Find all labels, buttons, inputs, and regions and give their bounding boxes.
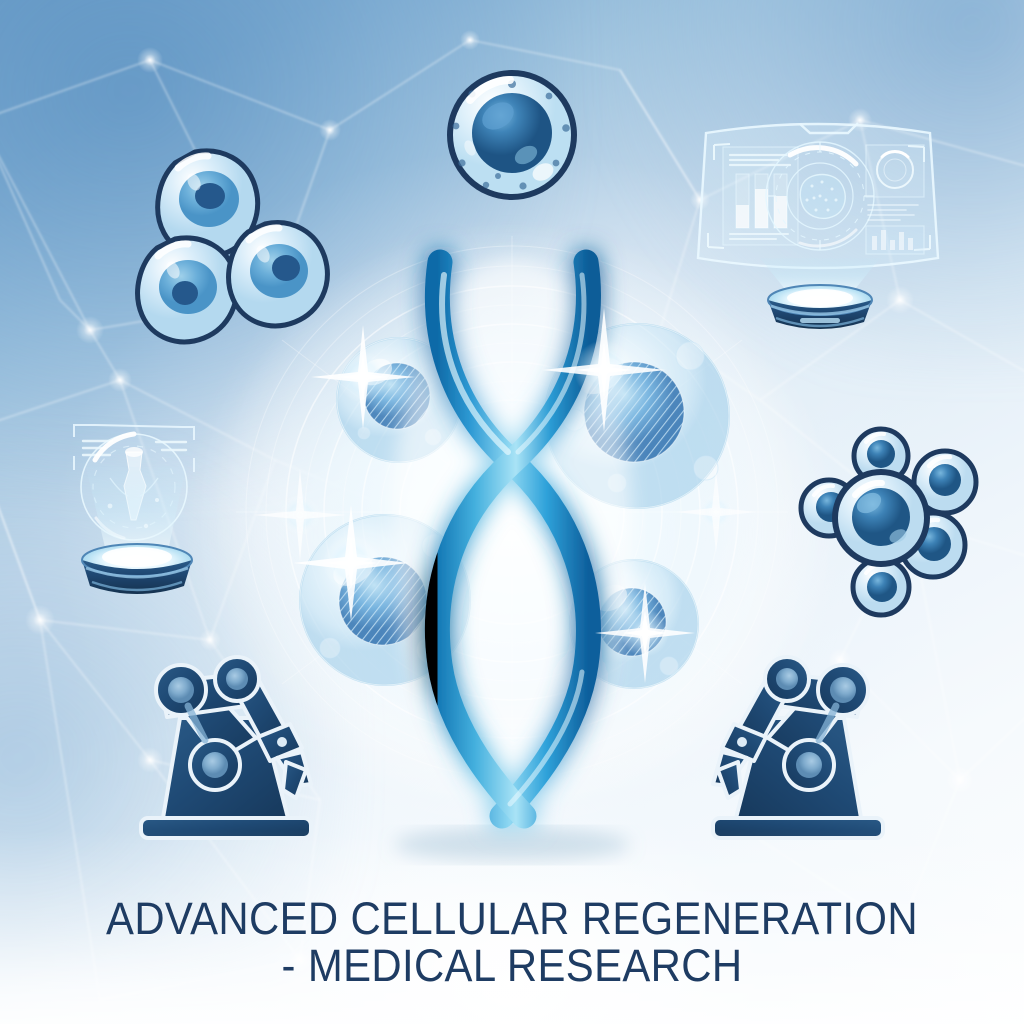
title-line-primary: ADVANCED CELLULAR REGENERATION: [36, 895, 988, 943]
title-line-secondary: - MEDICAL RESEARCH: [36, 942, 988, 990]
bottom-vignette: [0, 0, 1024, 1024]
poster-canvas: ADVANCED CELLULAR REGENERATION - MEDICAL…: [0, 0, 1024, 1024]
poster-title: ADVANCED CELLULAR REGENERATION - MEDICAL…: [0, 895, 1024, 990]
